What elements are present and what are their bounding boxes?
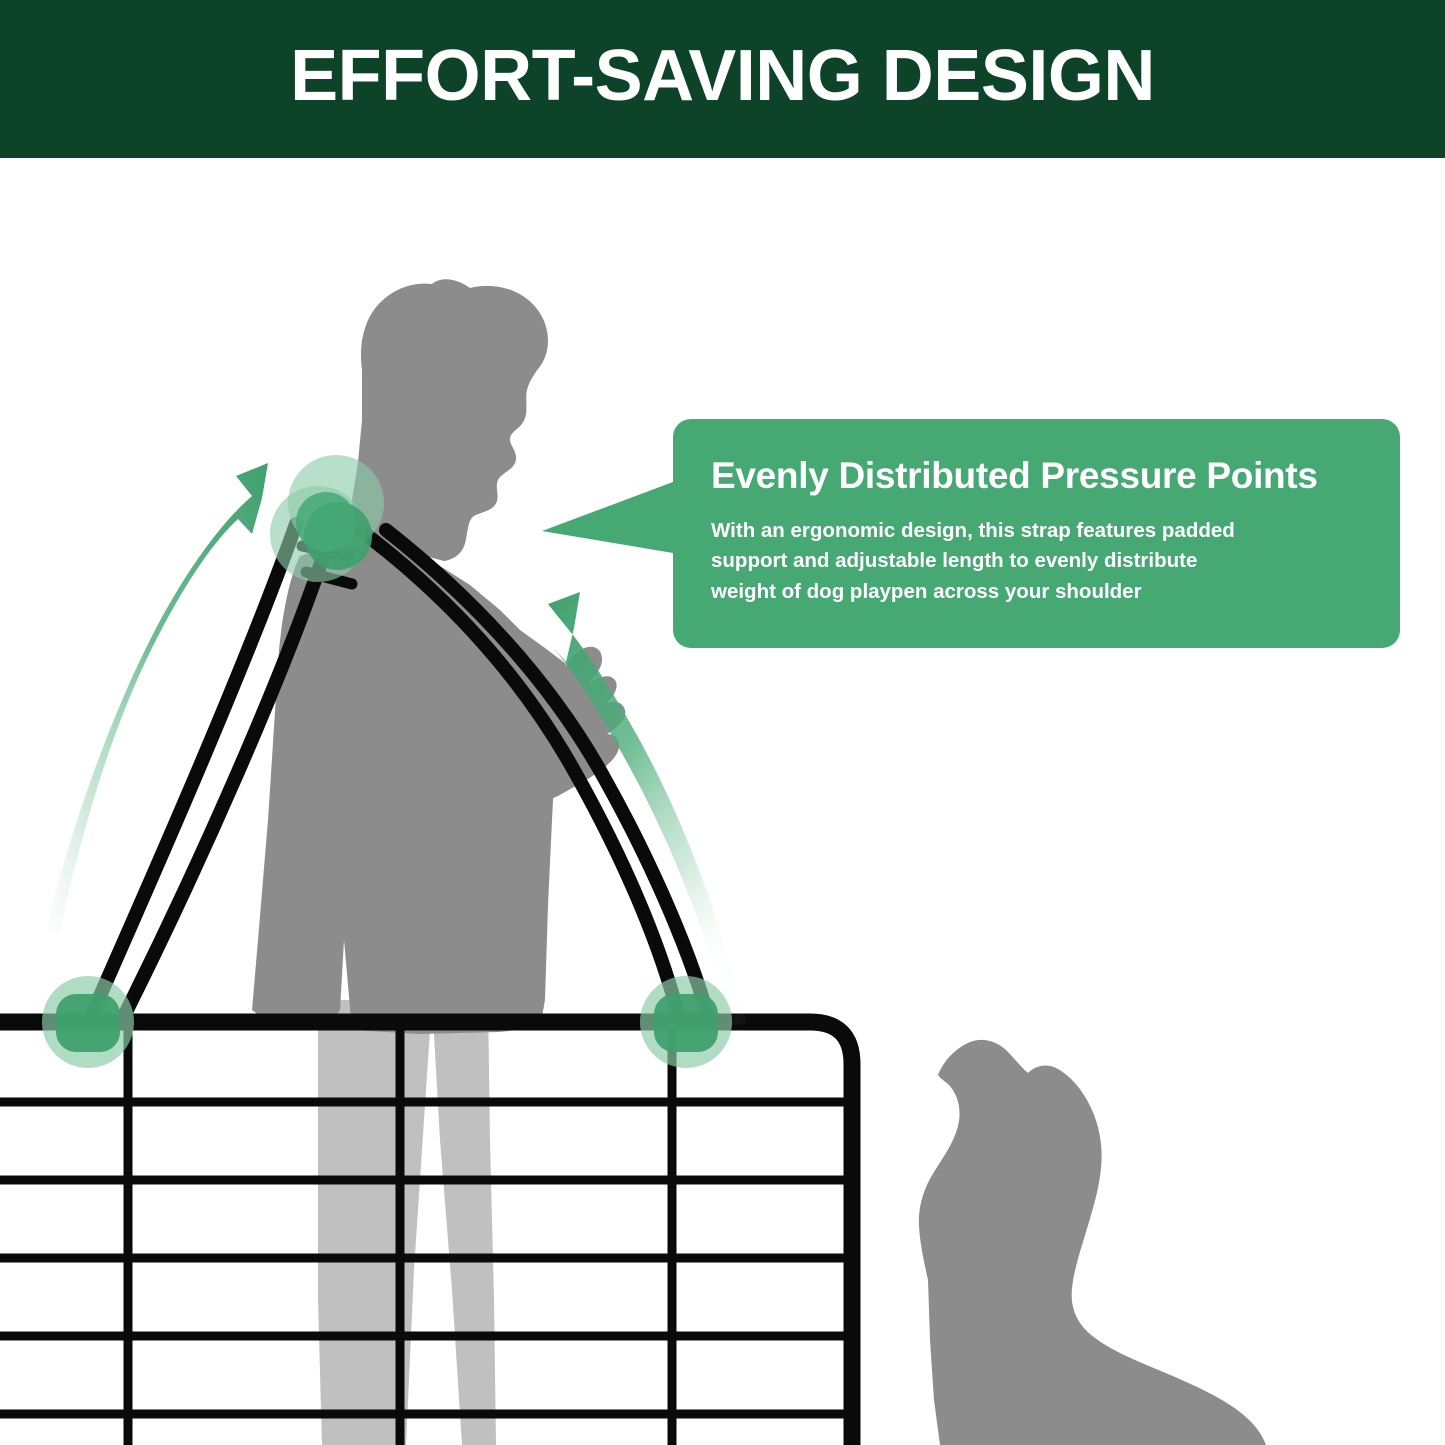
callout-body-line: With an ergonomic design, this strap fea… — [711, 516, 1366, 546]
force-arrow-right — [548, 592, 746, 1026]
callout-body-line: support and adjustable length to evenly … — [711, 546, 1366, 576]
callout-heading: Evenly Distributed Pressure Points — [711, 457, 1366, 496]
infographic-root: EFFORT-SAVING DESIGN — [0, 0, 1445, 1445]
pressure-point-left-pen-corner — [42, 976, 134, 1068]
illustration-scene — [0, 0, 1445, 1445]
dog-silhouette — [919, 1040, 1266, 1445]
person-silhouette — [252, 279, 625, 1445]
callout-body-line: weight of dog playpen across your should… — [711, 577, 1366, 607]
playpen-vertical-bars — [128, 1022, 672, 1445]
pressure-point-right-pen-corner — [640, 976, 732, 1068]
callout-pointer-icon — [542, 482, 673, 553]
person-legs — [318, 1000, 496, 1445]
callout-box: Evenly Distributed Pressure Points With … — [673, 419, 1400, 648]
callout-body: With an ergonomic design, this strap fea… — [711, 516, 1366, 607]
